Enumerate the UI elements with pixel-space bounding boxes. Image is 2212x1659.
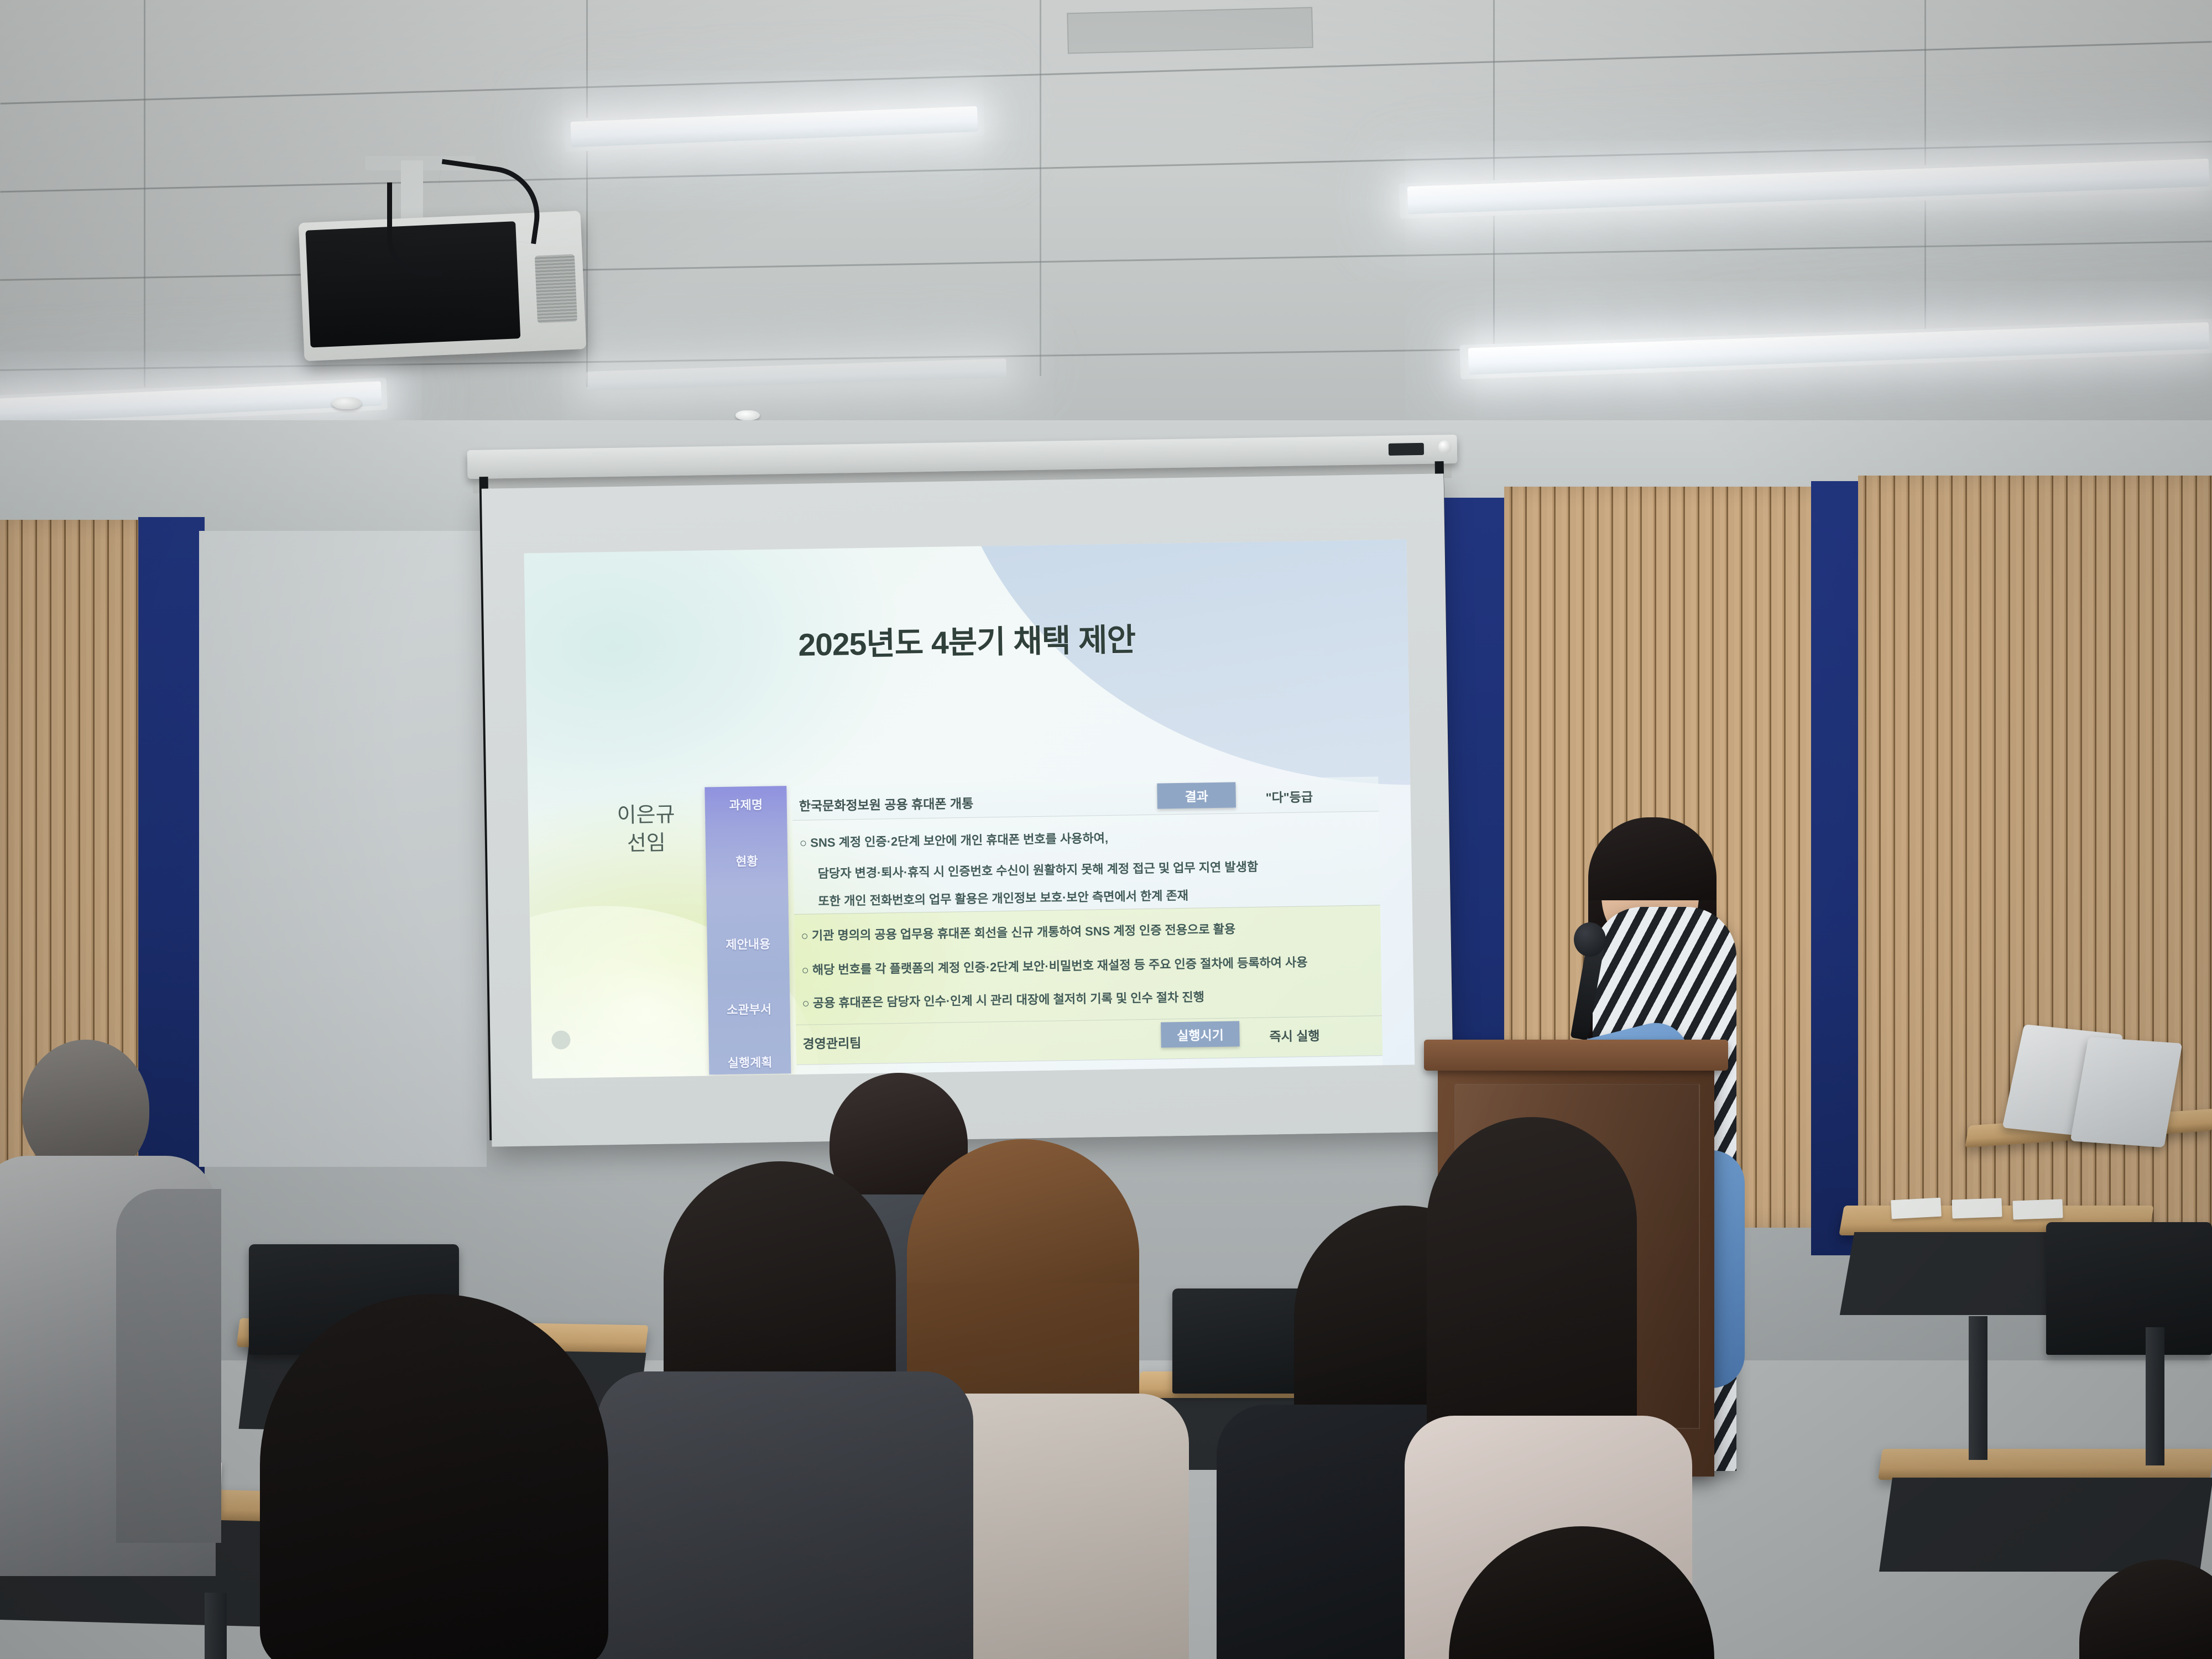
paper-sheet bbox=[1891, 1198, 1942, 1219]
slide-presenter-name: 이은규 선임 bbox=[593, 801, 700, 859]
smoke-detector-icon bbox=[735, 410, 760, 420]
row-label-3: 소관부서 bbox=[708, 999, 790, 1018]
laptop-screen bbox=[2070, 1037, 2183, 1147]
row-label-4: 실행계획 bbox=[709, 1052, 791, 1071]
slide-task-name: 한국문화정보원 공용 휴대폰 개통 bbox=[799, 793, 974, 815]
audience-torso bbox=[597, 1371, 973, 1659]
monitor bbox=[2046, 1222, 2212, 1355]
result-value: "다"등급 bbox=[1265, 786, 1313, 806]
presenter-name-line1: 이은규 bbox=[593, 801, 699, 831]
navy-column-right bbox=[1811, 481, 1861, 1255]
audience-head bbox=[2079, 1559, 2212, 1659]
smoke-detector-icon bbox=[332, 397, 362, 409]
ceiling-light-5 bbox=[586, 358, 1007, 390]
paper-sheet bbox=[1952, 1198, 2002, 1218]
audience-sleeve bbox=[116, 1189, 221, 1543]
timing-badge: 실행시기 bbox=[1161, 1021, 1240, 1047]
paper-sheet bbox=[2012, 1199, 2063, 1219]
row-label-2: 제안내용 bbox=[707, 934, 789, 953]
podium-top bbox=[1424, 1040, 1728, 1071]
seminar-room-photo: 2025년도 4분기 채택 제안 이은규 선임 bbox=[0, 0, 2212, 1659]
row-label-0: 과제명 bbox=[705, 795, 787, 813]
slide-table: 한국문화정보원 공용 휴대폰 개통 결과 "다"등급 ○ SNS 계정 인증·2… bbox=[792, 776, 1378, 786]
audience-head bbox=[260, 1294, 608, 1659]
projection-screen: 2025년도 4분기 채택 제안 이은규 선임 bbox=[482, 473, 1454, 1146]
ceiling-light-2 bbox=[1468, 322, 2210, 375]
presenter-name-line2: 선임 bbox=[593, 829, 699, 859]
ceiling-vent bbox=[1067, 7, 1313, 54]
navy-column-left bbox=[138, 517, 205, 1175]
wall-board-left bbox=[199, 531, 487, 1167]
microphone-head-icon bbox=[1574, 922, 1606, 957]
screen-end-knob bbox=[1438, 440, 1452, 453]
department-value: 경영관리팀 bbox=[802, 1032, 861, 1052]
screen-brand-label bbox=[1389, 443, 1424, 456]
presentation-slide: 2025년도 4분기 채택 제안 이은규 선임 bbox=[524, 539, 1415, 1078]
row-label-1: 현황 bbox=[706, 851, 787, 870]
ceiling-light-1 bbox=[1407, 159, 2210, 215]
ceiling bbox=[0, 0, 2212, 437]
timing-value: 즉시 실행 bbox=[1269, 1025, 1320, 1045]
slide-row-label-strip: 과제명 현황 제안내용 소관부서 실행계획 bbox=[705, 786, 791, 1074]
result-badge: 결과 bbox=[1157, 782, 1236, 808]
